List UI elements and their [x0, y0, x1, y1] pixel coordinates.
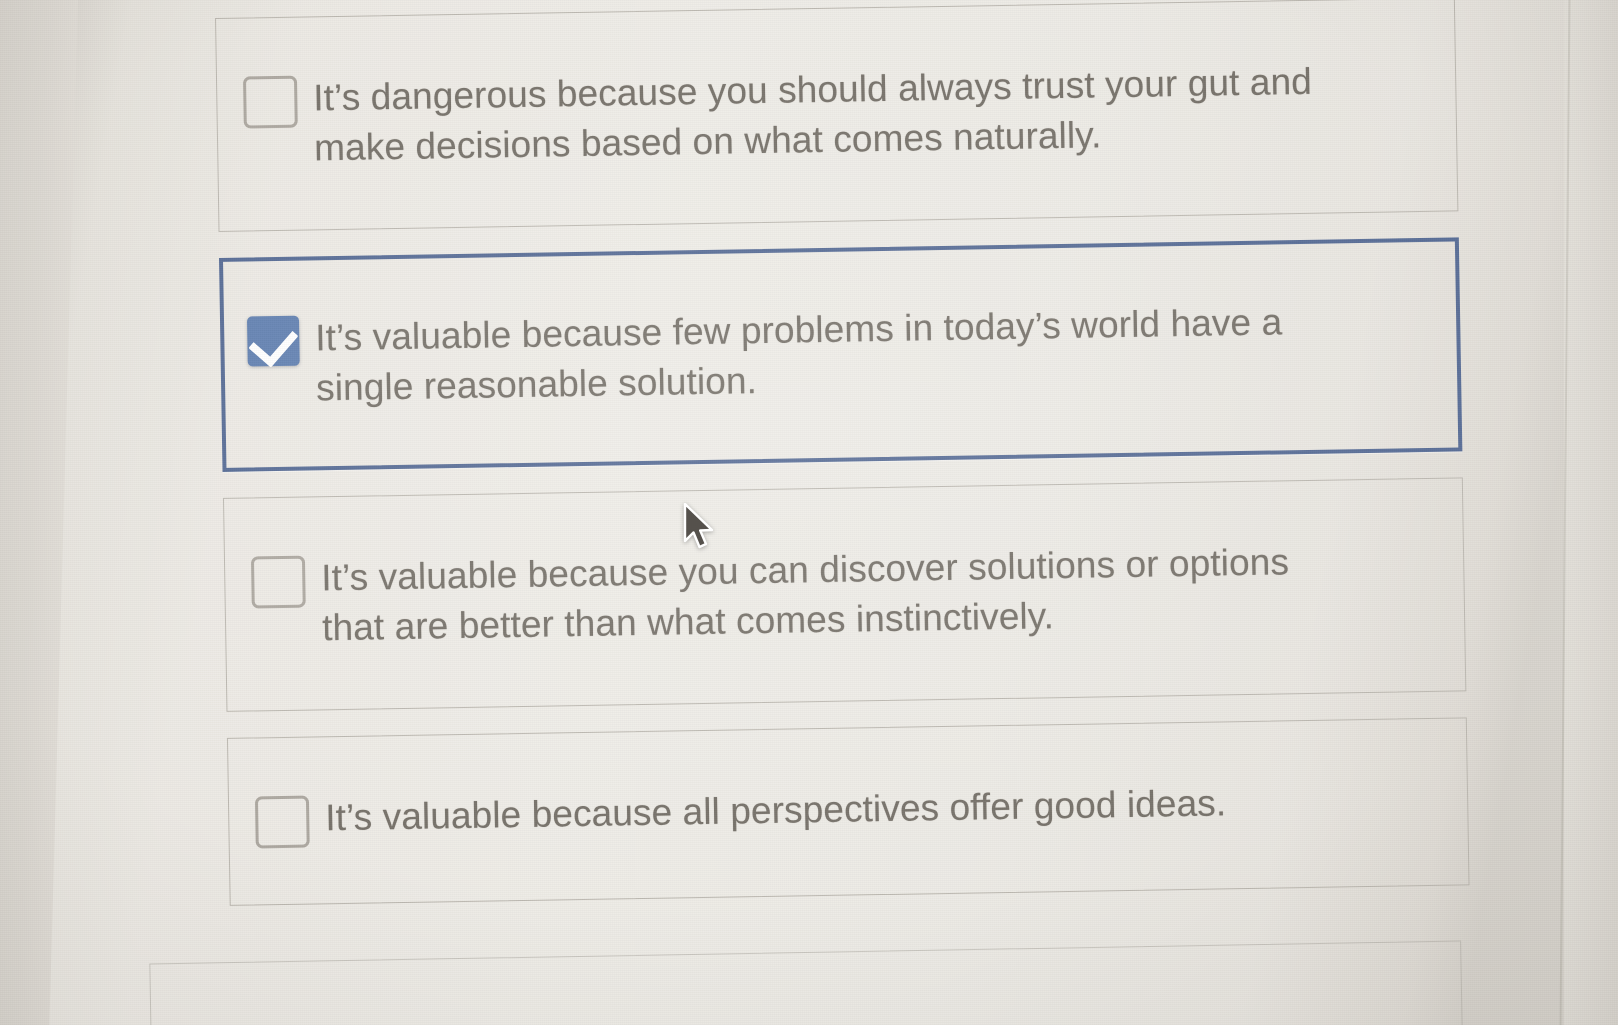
checkbox-empty-icon[interactable]	[251, 555, 306, 608]
answer-option-3-label: It’s valuable because you can discover s…	[321, 536, 1363, 653]
answer-option-1-label: It’s dangerous because you should always…	[313, 56, 1355, 173]
answer-option-2-label: It’s valuable because few problems in to…	[315, 296, 1357, 413]
answer-option-4[interactable]: It’s valuable because all perspectives o…	[227, 717, 1470, 906]
answer-options-list: It’s dangerous because you should always…	[215, 0, 1470, 931]
answer-option-2[interactable]: It’s valuable because few problems in to…	[219, 237, 1462, 471]
answer-option-1[interactable]: It’s dangerous because you should always…	[215, 0, 1458, 232]
screen-photo: It’s dangerous because you should always…	[0, 0, 1618, 1025]
checkbox-checked-icon[interactable]	[247, 316, 300, 367]
checkbox-empty-icon[interactable]	[243, 76, 298, 129]
checkbox-empty-icon[interactable]	[255, 795, 310, 848]
checkmark-icon	[248, 316, 298, 367]
screen-right-bezel	[1564, 0, 1618, 1025]
answer-option-3[interactable]: It’s valuable because you can discover s…	[223, 477, 1466, 711]
answer-option-4-label: It’s valuable because all perspectives o…	[325, 778, 1227, 843]
